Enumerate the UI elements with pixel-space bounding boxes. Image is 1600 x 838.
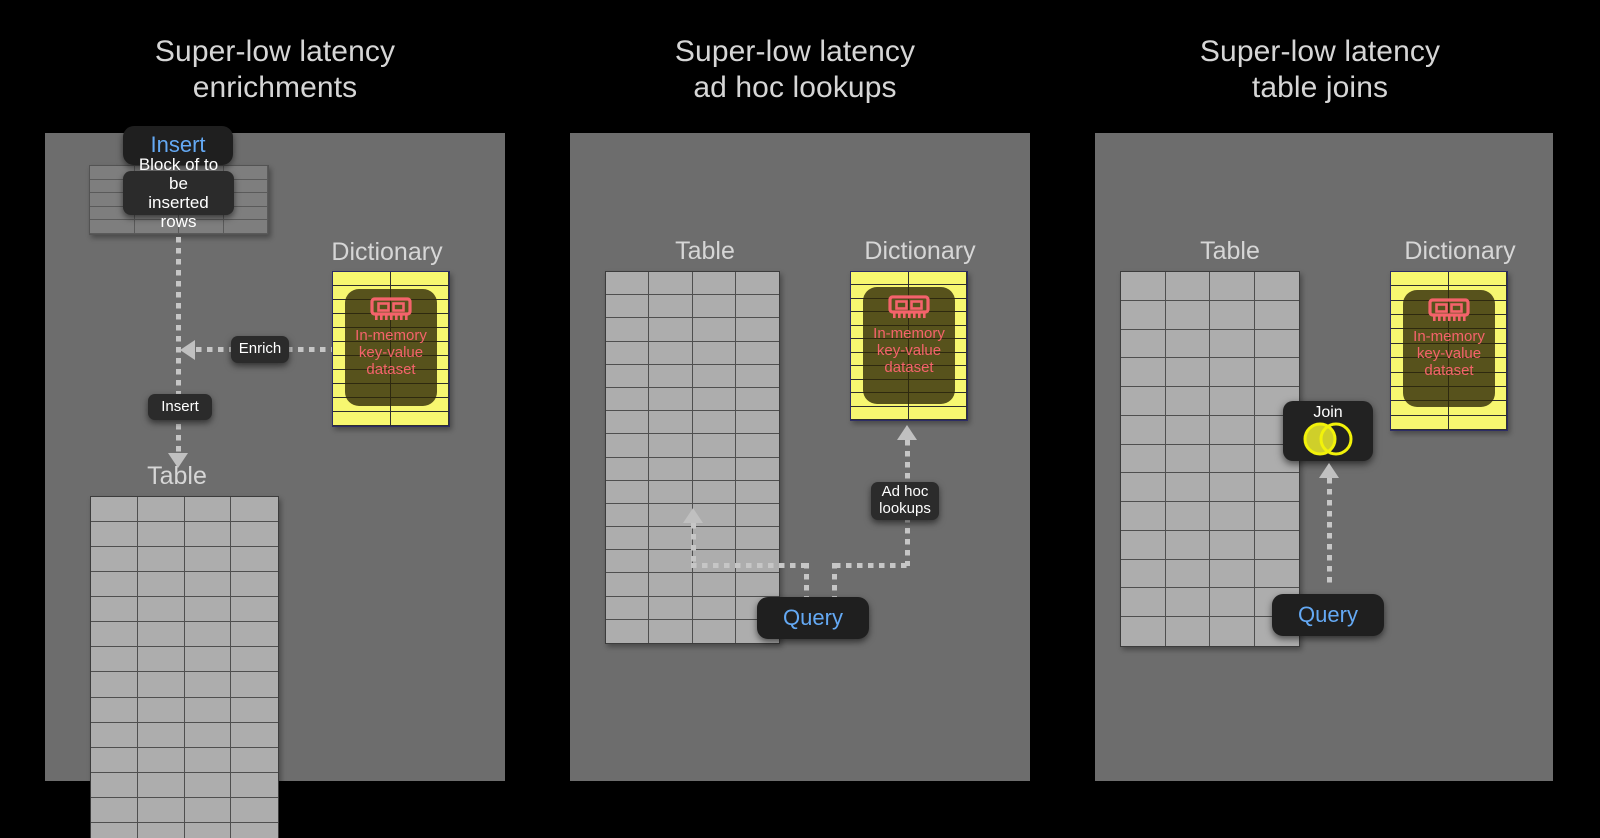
grid-cell [693,527,736,550]
grid-cell [649,272,692,295]
grid-cell [606,573,649,596]
label-dictionary-1: Dictionary [287,238,487,267]
grid-cell [1166,473,1211,502]
table-grid-1 [90,496,279,838]
grid-cell [606,550,649,573]
grid-cell [1121,588,1166,617]
grid-cell [1121,330,1166,359]
grid-cell [606,272,649,295]
grid-cell [1166,416,1211,445]
diagram-canvas: Super-low latency enrichments Insert Blo… [0,0,1600,838]
grid-cell [1255,560,1300,589]
connector-query-right-horizontal [835,563,910,568]
badge-query-2-label: Query [783,606,843,631]
grid-cell [1255,531,1300,560]
grid-cell [138,647,185,672]
grid-cell [91,647,138,672]
grid-cell [649,434,692,457]
grid-cell [138,823,185,838]
label-dictionary-3: Dictionary [1360,237,1560,266]
grid-cell [1166,301,1211,330]
grid-cell [736,573,779,596]
grid-cell [649,597,692,620]
grid-cell [138,622,185,647]
badge-query-3-label: Query [1298,603,1358,628]
grid-cell [231,723,278,748]
grid-cell [851,272,909,285]
grid-cell [1166,387,1211,416]
grid-cell [606,597,649,620]
grid-cell [736,272,779,295]
grid-cell [736,411,779,434]
panel-title-ad-hoc-lookups: Super-low latency ad hoc lookups [560,34,1030,106]
venn-diagram-icon [1297,421,1359,457]
grid-cell [91,798,138,823]
grid-cell [1166,502,1211,531]
grid-cell [606,620,649,643]
grid-cell [1210,617,1255,646]
badge-enrich-label: Enrich [239,341,282,358]
grid-cell [1391,416,1449,430]
grid-cell [1449,416,1507,430]
grid-cell [138,522,185,547]
grid-cell [649,342,692,365]
grid-cell [736,388,779,411]
in-memory-box-3: In-memory key-value dataset [1403,290,1495,407]
connector-query-right-drop [832,563,837,597]
ram-icon [888,295,930,321]
grid-cell [91,823,138,838]
grid-cell [606,504,649,527]
grid-cell [138,597,185,622]
grid-cell [736,434,779,457]
grid-cell [1210,272,1255,301]
connector-table-vertical-2 [691,523,696,566]
grid-cell [649,411,692,434]
grid-cell [91,723,138,748]
grid-cell [231,798,278,823]
grid-cell [606,388,649,411]
grid-cell [231,522,278,547]
grid-cell [1166,560,1211,589]
grid-cell [1255,358,1300,387]
grid-cell [138,672,185,697]
grid-cell [693,620,736,643]
grid-cell [693,481,736,504]
grid-cell [185,698,232,723]
grid-cell [649,550,692,573]
panel-title-table-joins: Super-low latency table joins [1085,34,1555,106]
table-grid-2 [605,271,780,644]
grid-cell [1255,272,1300,301]
connector-query-vertical-3 [1327,478,1332,586]
grid-cell [185,497,232,522]
grid-cell [185,723,232,748]
grid-cell [606,295,649,318]
grid-cell [649,365,692,388]
grid-cell [391,272,449,286]
grid-cell [231,672,278,697]
grid-cell [231,698,278,723]
connector-query-left-drop [804,563,809,597]
grid-cell [1210,416,1255,445]
grid-cell [606,434,649,457]
grid-cell [91,597,138,622]
grid-cell [649,573,692,596]
grid-cell [91,497,138,522]
grid-cell [851,407,909,420]
connector-query-left-horizontal [691,563,808,568]
badge-ad-hoc-lookups[interactable]: Ad hoc lookups [871,482,939,520]
panel-enrichments: Insert Block of to be inserted rows Inse… [45,133,505,781]
grid-cell [1255,473,1300,502]
grid-cell [693,434,736,457]
grid-cell [185,597,232,622]
grid-cell [1210,358,1255,387]
grid-cell [91,698,138,723]
badge-block-of-rows[interactable]: Block of to be inserted rows [123,171,234,215]
ram-icon [370,297,412,323]
badge-join[interactable]: Join [1283,401,1373,461]
grid-cell [606,527,649,550]
grid-cell [649,388,692,411]
grid-cell [333,412,391,426]
grid-cell [1166,531,1211,560]
grid-cell [693,318,736,341]
grid-cell [138,547,185,572]
in-memory-text-2: In-memory key-value dataset [873,325,945,376]
badge-insert-bottom[interactable]: Insert [148,394,212,420]
grid-cell [649,295,692,318]
grid-cell [91,522,138,547]
grid-cell [138,572,185,597]
grid-cell [1210,473,1255,502]
grid-cell [1166,445,1211,474]
panel-title-enrichments: Super-low latency enrichments [45,34,505,106]
grid-cell [231,823,278,838]
label-table-3: Table [1125,237,1335,266]
grid-cell [649,527,692,550]
grid-cell [138,773,185,798]
grid-cell [693,597,736,620]
grid-cell [185,522,232,547]
label-table-2: Table [600,237,810,266]
grid-cell [1121,617,1166,646]
grid-cell [231,547,278,572]
grid-cell [185,798,232,823]
grid-cell [1210,531,1255,560]
connector-enrich-right [287,347,334,352]
in-memory-box-1: In-memory key-value dataset [345,289,437,406]
badge-insert-bottom-label: Insert [161,399,199,416]
grid-cell [693,550,736,573]
grid-cell [736,481,779,504]
grid-cell [391,412,449,426]
grid-cell [693,411,736,434]
grid-cell [138,497,185,522]
grid-cell [606,342,649,365]
grid-cell [1391,272,1449,286]
arrowhead-enrich-left [180,340,195,360]
grid-cell [231,647,278,672]
badge-query-3[interactable]: Query [1272,594,1384,636]
grid-cell [606,411,649,434]
grid-cell [1166,330,1211,359]
arrowhead-ad-hoc-up [897,425,917,440]
grid-cell [1121,301,1166,330]
grid-cell [185,572,232,597]
grid-cell [231,572,278,597]
grid-cell [231,597,278,622]
grid-cell [185,823,232,838]
grid-cell [909,407,967,420]
grid-cell [736,318,779,341]
grid-cell [693,342,736,365]
grid-cell [606,458,649,481]
panel-ad-hoc-lookups: Table Dictionary In-memory key-value dat… [570,133,1030,781]
grid-cell [1449,272,1507,286]
grid-cell [1210,330,1255,359]
grid-cell [649,458,692,481]
grid-cell [91,622,138,647]
in-memory-text-3: In-memory key-value dataset [1413,328,1485,379]
grid-cell [185,773,232,798]
grid-cell [224,220,269,234]
grid-cell [736,365,779,388]
grid-cell [693,365,736,388]
grid-cell [91,773,138,798]
grid-cell [693,573,736,596]
grid-cell [231,622,278,647]
grid-cell [91,572,138,597]
grid-cell [1255,330,1300,359]
grid-cell [1255,301,1300,330]
grid-cell [185,622,232,647]
grid-cell [1210,502,1255,531]
grid-cell [231,497,278,522]
label-table-1: Table [77,462,277,491]
grid-cell [1121,272,1166,301]
table-grid-3 [1120,271,1300,647]
grid-cell [1166,272,1211,301]
grid-cell [1210,560,1255,589]
grid-cell [138,798,185,823]
grid-cell [138,723,185,748]
grid-cell [649,481,692,504]
grid-cell [231,773,278,798]
grid-cell [1121,416,1166,445]
grid-cell [606,365,649,388]
grid-cell [1255,502,1300,531]
grid-cell [736,550,779,573]
grid-cell [909,272,967,285]
grid-cell [1210,588,1255,617]
badge-query-2[interactable]: Query [757,597,869,639]
grid-cell [693,295,736,318]
grid-cell [91,547,138,572]
grid-cell [185,748,232,773]
grid-cell [606,318,649,341]
label-dictionary-2: Dictionary [820,237,1020,266]
grid-cell [231,748,278,773]
arrowhead-table-up-2 [683,508,703,523]
grid-cell [1121,358,1166,387]
grid-cell [185,672,232,697]
badge-block-of-rows-label: Block of to be inserted rows [133,155,224,231]
grid-cell [1121,531,1166,560]
grid-cell [185,547,232,572]
grid-cell [1166,588,1211,617]
connector-enrich-left [196,347,236,352]
grid-cell [1121,502,1166,531]
badge-ad-hoc-lookups-label: Ad hoc lookups [879,484,931,518]
grid-cell [138,748,185,773]
grid-cell [1210,387,1255,416]
grid-cell [1121,445,1166,474]
grid-cell [693,388,736,411]
grid-cell [736,458,779,481]
in-memory-text-1: In-memory key-value dataset [355,327,427,378]
grid-cell [1121,473,1166,502]
badge-enrich[interactable]: Enrich [231,336,289,363]
grid-cell [185,647,232,672]
grid-cell [736,342,779,365]
grid-cell [736,295,779,318]
grid-cell [333,272,391,286]
badge-join-label: Join [1313,404,1342,422]
grid-cell [1210,445,1255,474]
grid-cell [1166,358,1211,387]
grid-cell [649,318,692,341]
grid-cell [1121,387,1166,416]
grid-cell [693,458,736,481]
ram-icon [1428,298,1470,324]
grid-cell [1210,301,1255,330]
grid-cell [91,672,138,697]
grid-cell [138,698,185,723]
panel-table-joins: Table Dictionary In-memory key-value dat… [1095,133,1553,781]
grid-cell [649,620,692,643]
grid-cell [736,504,779,527]
in-memory-box-2: In-memory key-value dataset [863,287,955,404]
grid-cell [1121,560,1166,589]
arrowhead-join-up [1319,463,1339,478]
grid-cell [1166,617,1211,646]
grid-cell [90,220,135,234]
grid-cell [606,481,649,504]
grid-cell [693,272,736,295]
grid-cell [736,527,779,550]
grid-cell [91,748,138,773]
